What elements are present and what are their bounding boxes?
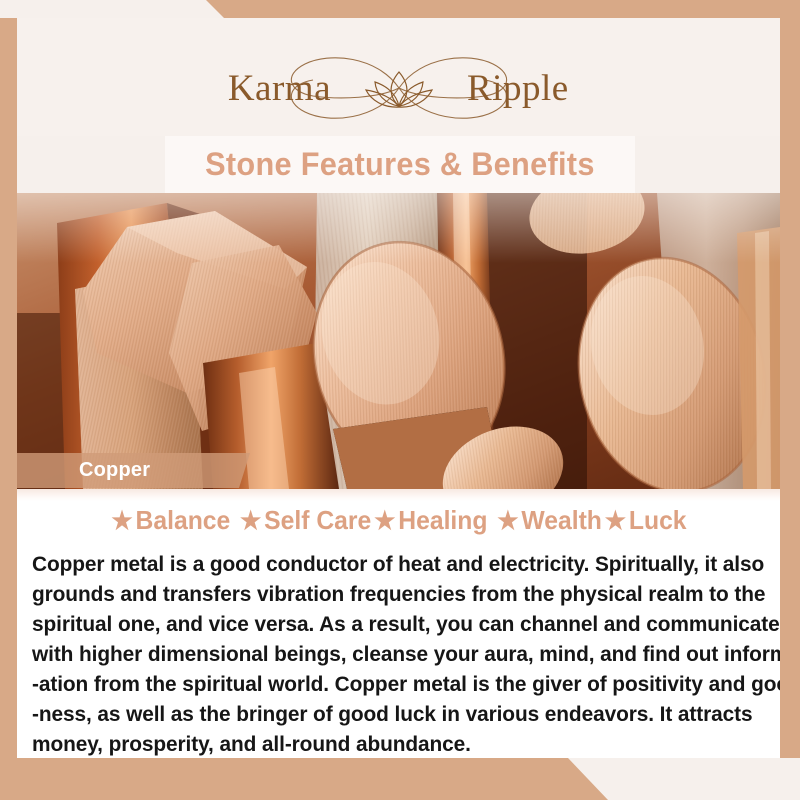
brand-logo: Karma Ripple [209, 42, 589, 134]
page-title: Stone Features & Benefits [205, 146, 595, 183]
benefit-star-icon: ★ [495, 507, 520, 535]
description-text: Copper metal is a good conductor of heat… [32, 549, 750, 759]
stone-benefits-infographic: Karma Ripple Stone Features & Benefits [0, 0, 800, 800]
description-line: spiritual one, and vice versa. As a resu… [32, 609, 750, 639]
benefit-keyword: Healing [397, 505, 488, 535]
copper-bars-photo [17, 193, 780, 489]
keyword-spacer [231, 505, 238, 535]
content-panel: ★Balance ★Self Care★Healing ★Wealth★Luck… [17, 489, 780, 758]
frame-band-right [780, 18, 800, 758]
frame-band-top [0, 0, 800, 18]
title-plaque: Stone Features & Benefits [165, 136, 635, 193]
header-area: Karma Ripple [17, 18, 780, 136]
description-line: -ness, as well as the bringer of good lu… [32, 699, 750, 729]
benefit-star-icon: ★ [603, 507, 628, 535]
stone-name-label: Copper [17, 459, 150, 482]
benefit-keyword: Self Care [263, 505, 372, 535]
benefit-star-icon: ★ [109, 507, 134, 535]
description-line: with higher dimensional beings, cleanse … [32, 639, 750, 669]
description-line: -ation from the spiritual world. Copper … [32, 669, 750, 699]
benefit-keywords-row: ★Balance ★Self Care★Healing ★Wealth★Luck [36, 505, 761, 536]
benefit-keyword: Balance [135, 505, 232, 535]
brand-word-left: Karma [227, 68, 330, 109]
description-line: money, prosperity, and all-round abundan… [32, 729, 750, 759]
description-line: Copper metal is a good conductor of heat… [32, 549, 750, 579]
copper-bars-illustration [17, 193, 780, 489]
benefit-keyword: Luck [628, 505, 688, 535]
brand-word-right: Ripple [467, 68, 569, 109]
frame-band-left [0, 18, 17, 782]
description-line: grounds and transfers vibration frequenc… [32, 579, 750, 609]
benefit-star-icon: ★ [372, 507, 397, 535]
brand-logo-svg: Karma Ripple [209, 42, 589, 134]
benefit-star-icon: ★ [238, 507, 263, 535]
panel-top-fade [17, 489, 780, 501]
photo-caption-bar: Copper [17, 453, 250, 488]
benefit-keyword: Wealth [520, 505, 602, 535]
